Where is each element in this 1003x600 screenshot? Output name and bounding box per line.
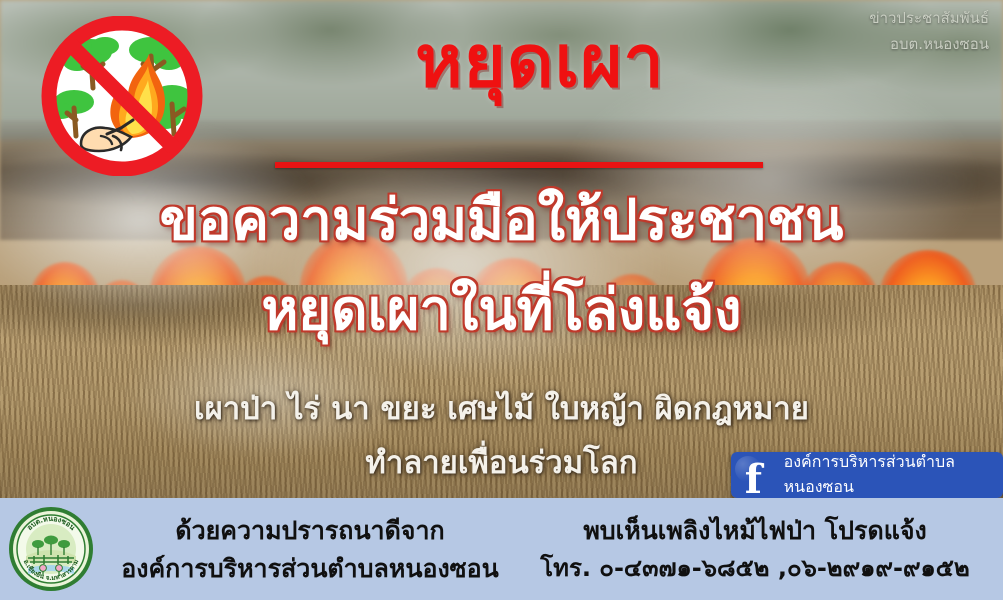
footer-left-block: ด้วยความปรารถนาดีจาก องค์การบริหารส่วนตำ… <box>100 512 520 587</box>
message-line-1: ขอความร่วมมือให้ประชาชน <box>0 190 1003 253</box>
municipality-seal-icon: อบต.หนองซอน อ.เชียงยืน จ.มหาสารคาม <box>8 506 94 592</box>
footer-left-line-1: ด้วยความปรารถนาดีจาก <box>100 512 520 550</box>
message-line-2: หยุดเผาในที่โล่งแจ้ง <box>0 280 1003 343</box>
kicker-line-1: ข่าวประชาสัมพันธ์ <box>869 8 989 30</box>
footer-phone-numbers: โทร. ๐-๔๓๗๑-๖๘๕๒ ,๐๖-๒๙๑๙-๙๑๕๒ <box>520 550 990 586</box>
subtext-line-1: เผาป่า ไร่ นา ขยะ เศษไม้ ใบหญ้า ผิดกฎหมา… <box>0 383 1003 433</box>
footer-right-line-1: พบเห็นเพลิงไหม้ไฟป่า โปรดแจ้ง <box>520 512 990 550</box>
no-burning-icon <box>33 16 211 176</box>
facebook-glyph: f <box>745 460 762 498</box>
public-announcement-poster: ข่าวประชาสัมพันธ์ อบต.หนองซอน หยุดเผา ขอ… <box>0 0 1003 600</box>
red-divider <box>275 162 763 168</box>
kicker-text: ข่าวประชาสัมพันธ์ อบต.หนองซอน <box>869 8 989 56</box>
facebook-page-name: องค์การบริหารส่วนตำบลหนองซอน <box>776 452 1003 498</box>
kicker-line-2: อบต.หนองซอน <box>869 34 989 56</box>
facebook-page-badge[interactable]: f องค์การบริหารส่วนตำบลหนองซอน <box>731 452 1003 498</box>
page-title: หยุดเผา <box>330 24 750 100</box>
footer-bar: อบต.หนองซอน อ.เชียงยืน จ.มหาสารคาม ด้วยค… <box>0 498 1003 600</box>
footer-right-block: พบเห็นเพลิงไหม้ไฟป่า โปรดแจ้ง โทร. ๐-๔๓๗… <box>520 512 990 586</box>
footer-left-line-2: องค์การบริหารส่วนตำบลหนองซอน <box>100 550 520 588</box>
facebook-icon: f <box>731 452 776 498</box>
